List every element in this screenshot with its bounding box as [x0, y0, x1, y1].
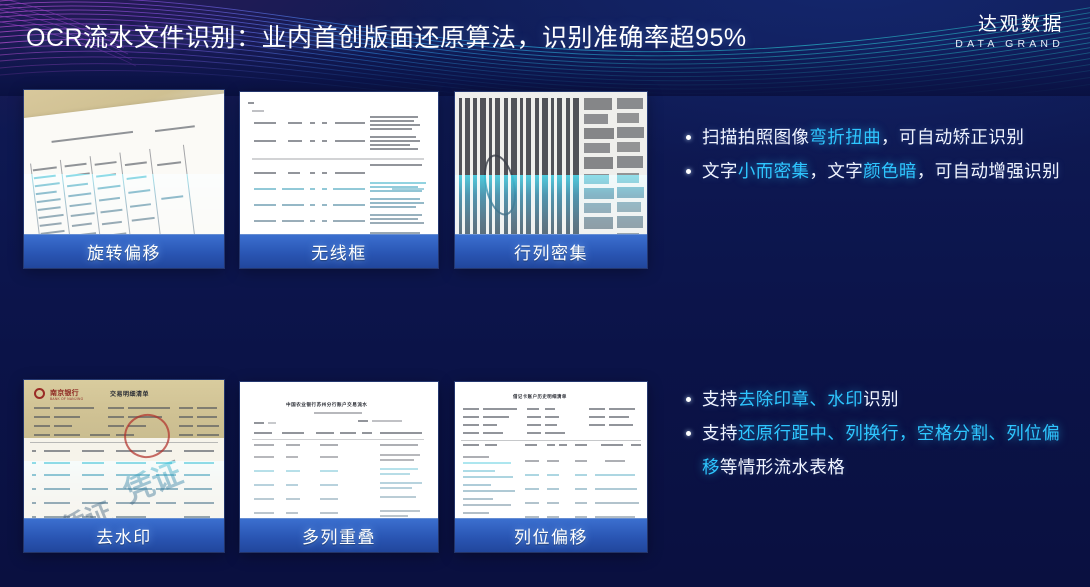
plain-text: 扫描拍照图像: [702, 127, 809, 147]
brand-logo-en: DATA GRAND: [955, 38, 1064, 50]
sample-card-grid: 旋转偏移: [0, 0, 660, 587]
card-label-column-offset: 列位偏移: [455, 518, 647, 552]
plain-text: ，文字: [809, 161, 863, 181]
plain-text: 识别: [863, 389, 899, 409]
bullet-group-bottom: 支持去除印章、水印识别 支持还原行距中、列换行，空格分割、列位偏移等情形流水表格: [686, 382, 1066, 484]
plain-text: ，可自动增强识别: [917, 161, 1060, 181]
offset-doc-title: 借记卡账户历史明细清单: [513, 394, 567, 400]
card-label-rotated: 旋转偏移: [24, 234, 224, 268]
sample-card-watermark[interactable]: 南京银行 BANK OF NANJING 交易明细清单: [24, 380, 224, 552]
card-label-watermark: 去水印: [24, 518, 224, 552]
brand-logo-cn: 达观数据: [955, 14, 1064, 36]
bullet-group-top: 扫描拍照图像弯折扭曲，可自动矫正识别 文字小而密集，文字颜色暗，可自动增强识别: [686, 120, 1066, 188]
card-label-overlap: 多列重叠: [240, 518, 438, 552]
brand-logo: 达观数据 DATA GRAND: [955, 14, 1064, 50]
sample-card-overlap[interactable]: 中国农业银行苏州分行账户交易流水: [240, 382, 438, 552]
sample-card-rotated[interactable]: 旋转偏移: [24, 90, 224, 268]
sample-card-column-offset[interactable]: 借记卡账户历史明细清单: [455, 382, 647, 552]
bank-doc-title: 交易明细清单: [110, 389, 149, 398]
sample-card-borderless[interactable]: 无线框: [240, 92, 438, 268]
plain-text: 等情形流水表格: [720, 457, 845, 477]
highlight-text: 小而密集: [738, 161, 810, 181]
bank-name-en: BANK OF NANJING: [50, 397, 83, 401]
highlight-text: 去除印章、水印: [738, 389, 863, 409]
bullet-item: 扫描拍照图像弯折扭曲，可自动矫正识别: [686, 120, 1066, 154]
plain-text: 文字: [702, 161, 738, 181]
plain-text: 支持: [702, 423, 738, 443]
card-label-borderless: 无线框: [240, 234, 438, 268]
highlight-text: 颜色暗: [863, 161, 917, 181]
card-label-dense: 行列密集: [455, 234, 647, 268]
plain-text: 支持: [702, 389, 738, 409]
slide-root: OCR流水文件识别：业内首创版面还原算法，识别准确率超95% 达观数据 DATA…: [0, 0, 1090, 587]
bullet-item: 文字小而密集，文字颜色暗，可自动增强识别: [686, 154, 1066, 188]
bullet-item: 支持还原行距中、列换行，空格分割、列位偏移等情形流水表格: [686, 416, 1066, 484]
bullet-item: 支持去除印章、水印识别: [686, 382, 1066, 416]
agri-doc-title: 中国农业银行苏州分行账户交易流水: [286, 402, 368, 408]
sample-card-dense[interactable]: 行列密集: [455, 92, 647, 268]
plain-text: ，可自动矫正识别: [881, 127, 1024, 147]
highlight-text: 弯折扭曲: [809, 127, 881, 147]
